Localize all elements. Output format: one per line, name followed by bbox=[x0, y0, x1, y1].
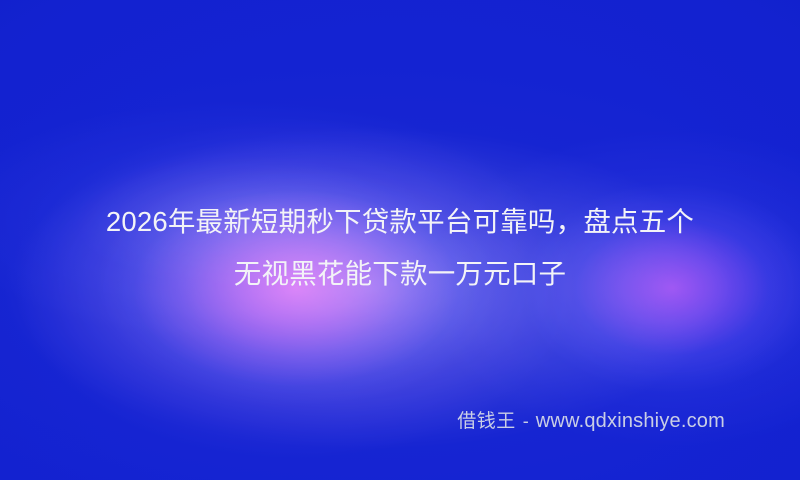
article-cover-image: 2026年最新短期秒下贷款平台可靠吗，盘点五个 无视黑花能下款一万元口子 借钱王… bbox=[0, 0, 800, 480]
title-line-1: 2026年最新短期秒下贷款平台可靠吗，盘点五个 bbox=[0, 196, 800, 248]
title-line-2: 无视黑花能下款一万元口子 bbox=[0, 248, 800, 300]
watermark-brand-name: 借钱王 bbox=[457, 408, 516, 436]
watermark-url: www.qdxinshiye.com bbox=[536, 407, 725, 435]
site-watermark: 借钱王 - www.qdxinshiye.com bbox=[457, 407, 725, 436]
cover-title: 2026年最新短期秒下贷款平台可靠吗，盘点五个 无视黑花能下款一万元口子 bbox=[0, 196, 800, 300]
watermark-separator: - bbox=[523, 407, 529, 435]
